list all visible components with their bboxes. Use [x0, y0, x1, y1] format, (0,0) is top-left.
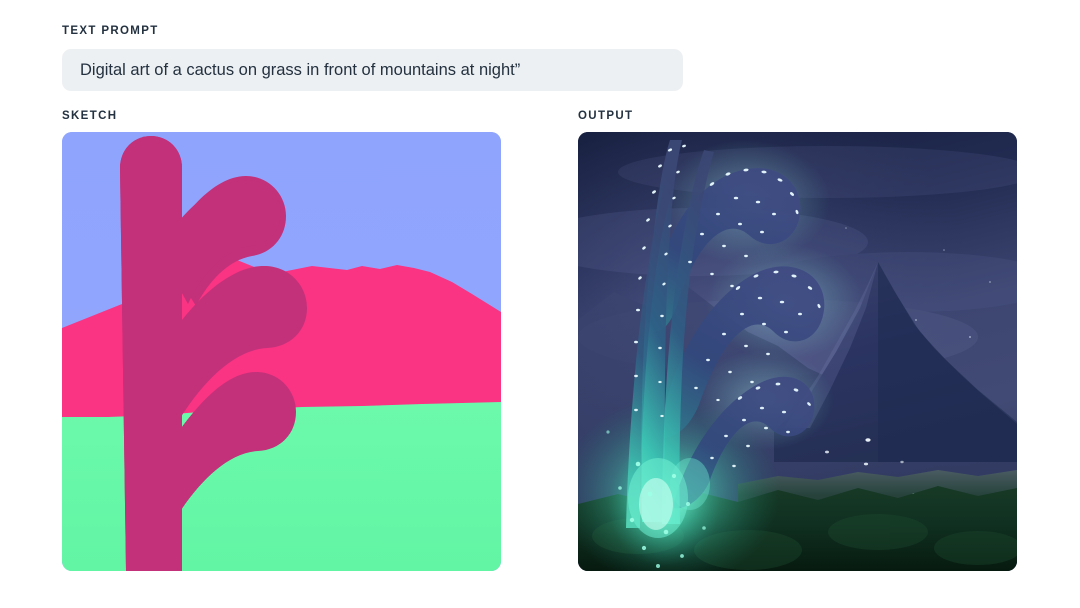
sketch-label: SKETCH [62, 110, 501, 122]
output-panel: OUTPUT [578, 110, 1017, 571]
output-label: OUTPUT [578, 110, 1017, 122]
output-canvas [578, 132, 1017, 571]
sketch-image[interactable] [62, 132, 501, 571]
sketch-canvas [62, 132, 501, 571]
text-prompt-input[interactable]: Digital art of a cactus on grass in fron… [62, 49, 683, 91]
text-prompt-label: TEXT PROMPT [62, 25, 683, 37]
text-prompt-section: TEXT PROMPT Digital art of a cactus on g… [62, 25, 683, 91]
output-image[interactable] [578, 132, 1017, 571]
app-root: TEXT PROMPT Digital art of a cactus on g… [0, 0, 1080, 608]
sketch-panel: SKETCH [62, 110, 501, 571]
